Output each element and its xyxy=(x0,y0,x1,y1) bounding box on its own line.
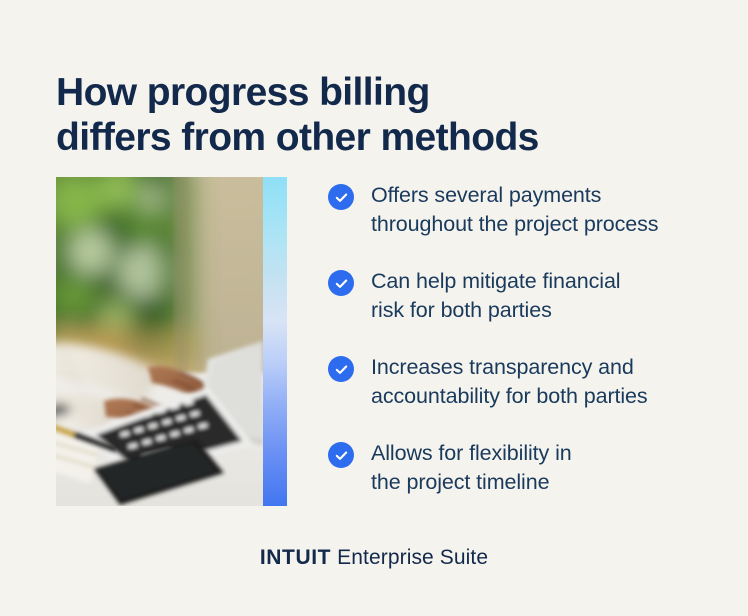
check-circle-icon xyxy=(328,270,354,296)
media-block xyxy=(56,177,287,506)
list-item-label: Can help mitigate financial risk for bot… xyxy=(371,267,620,325)
list-item-label: Increases transparency and accountabilit… xyxy=(371,353,648,411)
intuit-wordmark: INTUIT xyxy=(260,546,331,569)
list-item: Offers several payments throughout the p… xyxy=(328,181,718,239)
list-item: Allows for flexibility in the project ti… xyxy=(328,439,718,497)
benefit-list: Offers several payments throughout the p… xyxy=(328,181,718,497)
check-circle-icon xyxy=(328,184,354,210)
brand-lockup: INTUITEnterprise Suite xyxy=(0,546,748,570)
list-item: Increases transparency and accountabilit… xyxy=(328,353,718,411)
accent-gradient-strip xyxy=(263,177,287,506)
laptop-typing-photo xyxy=(56,177,263,506)
list-item-label: Offers several payments throughout the p… xyxy=(371,181,658,239)
infographic-card: How progress billing differs from other … xyxy=(0,0,748,616)
page-title: How progress billing differs from other … xyxy=(56,70,686,160)
list-item: Can help mitigate financial risk for bot… xyxy=(328,267,718,325)
check-circle-icon xyxy=(328,442,354,468)
list-item-label: Allows for flexibility in the project ti… xyxy=(371,439,572,497)
check-circle-icon xyxy=(328,356,354,382)
product-name: Enterprise Suite xyxy=(337,546,488,569)
